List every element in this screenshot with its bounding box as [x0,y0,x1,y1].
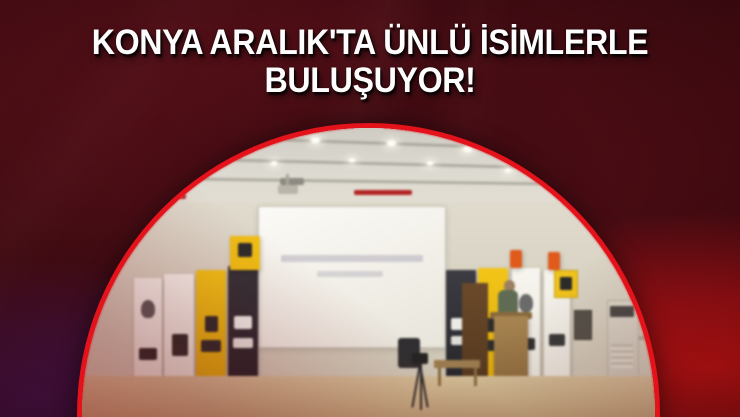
banner-logo [234,316,252,329]
rollup-banner [164,274,194,380]
rollup-banner-top [230,236,260,270]
banner-logo [201,340,221,352]
ceiling-downlight [134,180,142,185]
banner-logo [238,243,252,257]
photo-inner [82,128,655,417]
banner-logo [172,334,188,356]
track-light [280,178,304,185]
ceiling-downlight [310,137,321,144]
banner-graphic [141,300,155,318]
ceiling-downlight [234,139,245,146]
ceiling-downlight [348,158,356,163]
stage-table-leg [474,368,477,386]
ceiling-downlight [426,161,434,166]
ceiling-downlight [386,140,397,147]
photo-scene [82,128,655,417]
conference-photo-circle [82,128,655,417]
ceiling-downlight [160,146,171,153]
projection-screen [258,206,446,348]
banner-top-marker [510,250,522,268]
stage-table [434,360,480,368]
banner-logo [549,334,565,346]
ceiling-red-bar [146,194,186,199]
screen-text-line [281,255,423,262]
video-camera [412,353,428,364]
ceiling-downlight [504,168,512,173]
stage-table-leg [438,368,441,386]
thumbnail-canvas: KONYA ARALIK'TA ÜNLÜ İSİMLERLE BULUŞUYOR… [0,0,740,417]
banner-logo [139,348,157,360]
podium [494,316,528,380]
ac-grill [611,344,633,368]
wall-rail [638,336,655,340]
ceiling-downlight [622,190,630,195]
wall-frame [574,310,592,340]
banner-top-marker [548,252,560,270]
ceiling-downlight [270,161,278,166]
banner-logo [233,338,253,348]
tripod-leg [420,364,422,410]
stage-floor [82,376,655,417]
wall-sign [554,270,578,298]
ceiling-downlight [192,168,200,173]
screen-text-line [317,271,383,277]
banner-graphic [519,294,533,312]
rollup-banner [134,278,162,380]
banner-logo [205,316,218,332]
rollup-banner [196,270,226,380]
rollup-banner [228,266,258,380]
ceiling-downlight [462,146,473,153]
projector [278,185,298,194]
ac-panel [610,306,634,317]
ceiling-downlight [562,180,570,185]
ceiling-red-bar [354,190,412,195]
